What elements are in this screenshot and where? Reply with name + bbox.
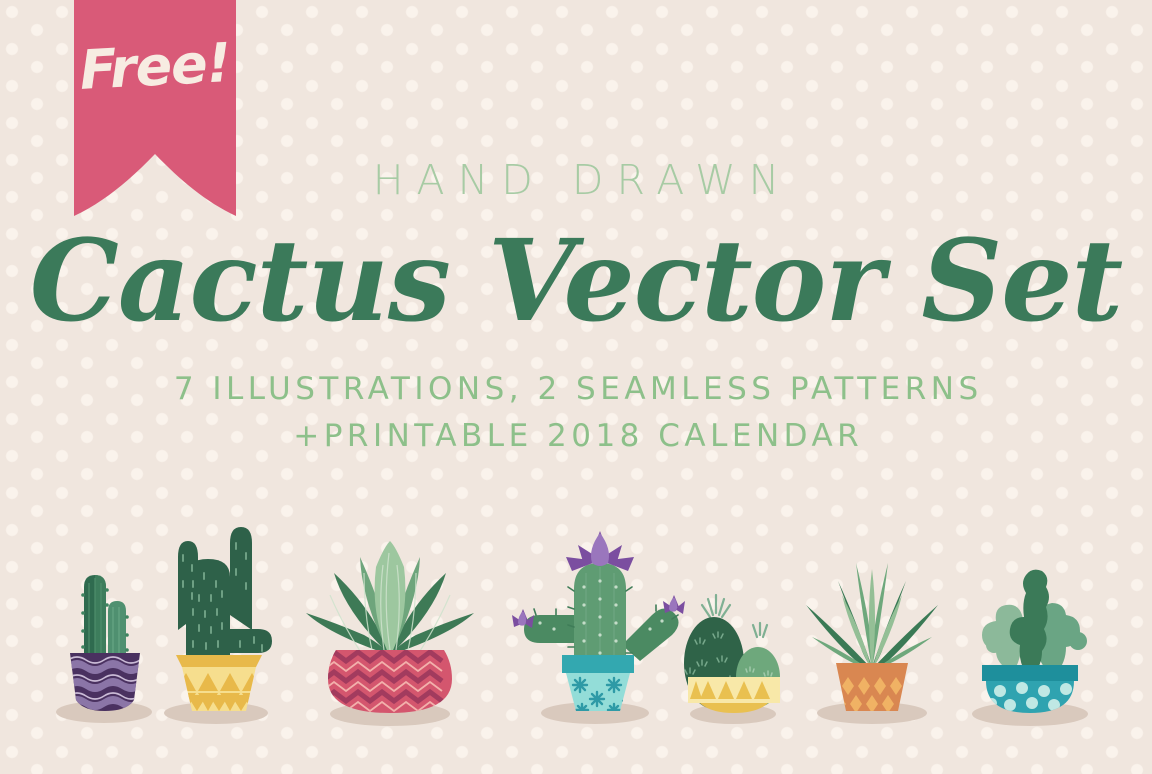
plant-3 (306, 541, 474, 713)
subtitle-line-2: +PRINTABLE 2018 CALENDAR (0, 414, 1152, 459)
plant-1 (68, 575, 140, 711)
cactus-illustration-row (0, 495, 1152, 774)
page-title: Cactus Vector Set (0, 223, 1152, 341)
headline-block: HAND DRAWN Cactus Vector Set 7 ILLUSTRAT… (0, 0, 1152, 458)
subtitle-line-1: 7 ILLUSTRATIONS, 2 SEAMLESS PATTERNS (0, 367, 1152, 412)
eyebrow-text: HAND DRAWN (0, 160, 1152, 201)
plant-4 (512, 531, 685, 716)
poster-canvas: Free! HAND DRAWN Cactus Vector Set 7 ILL… (0, 0, 1152, 774)
plant-6 (806, 563, 938, 713)
plant-5 (684, 595, 780, 713)
plant-7 (982, 570, 1087, 713)
plant-2 (176, 527, 272, 711)
